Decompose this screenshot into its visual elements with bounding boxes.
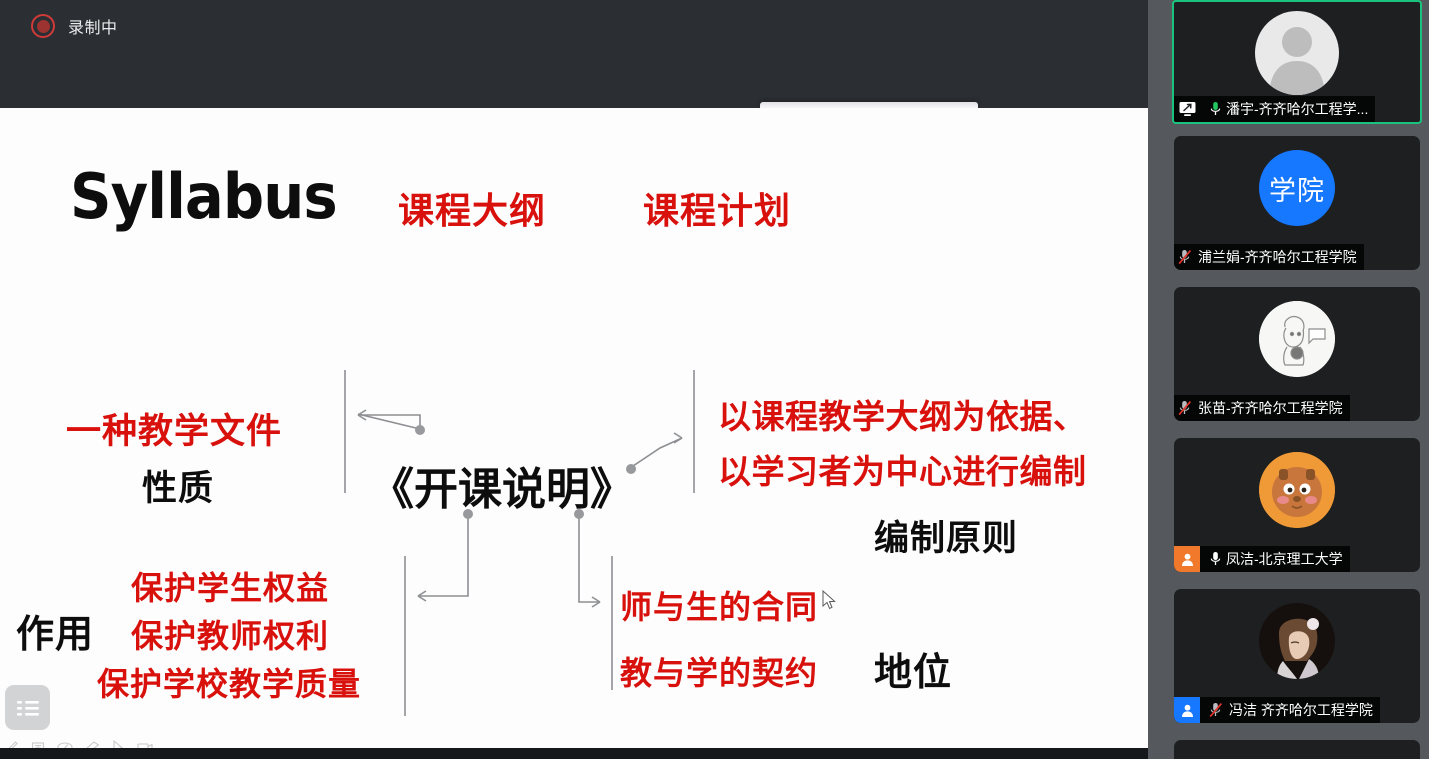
branch-function-label: 作用 xyxy=(16,603,94,658)
camera-icon[interactable] xyxy=(136,739,154,748)
branch-function-line3: 保护学校教学质量 xyxy=(97,659,361,705)
pen-icon[interactable] xyxy=(4,739,20,748)
shared-screen-slide[interactable]: Syllabus 课程大纲 课程计划 一种教学文件 性质 《开课说明》 以课程教… xyxy=(0,108,1148,748)
list-menu-icon[interactable] xyxy=(5,685,50,730)
cursor-arrow-icon[interactable] xyxy=(111,739,126,748)
participant-tile[interactable]: 凤洁-北京理工大学 xyxy=(1174,438,1420,572)
slide-title-alt-1: 课程大纲 xyxy=(398,182,546,234)
participant-video: 潘宇-齐齐哈尔工程学... xyxy=(1174,2,1420,122)
host-icon xyxy=(1174,697,1200,723)
eraser-icon[interactable] xyxy=(84,739,101,748)
participant-tile-partial[interactable] xyxy=(1174,740,1420,759)
participant-namebar: 冯洁 齐齐哈尔工程学院 xyxy=(1174,697,1380,723)
avatar xyxy=(1259,603,1335,679)
avatar xyxy=(1255,11,1339,95)
branch-principle-line1: 以课程教学大纲为依据、 xyxy=(718,390,1087,438)
branch-function-line1: 保护学生权益 xyxy=(131,563,329,609)
branch-status-line1: 师与生的合同 xyxy=(620,582,818,628)
text-box-icon[interactable] xyxy=(30,739,46,748)
branch-principle-line2: 以学习者为中心进行编制 xyxy=(718,445,1087,493)
participant-video: 张苗-齐齐哈尔工程学院 xyxy=(1174,287,1420,421)
avatar xyxy=(1259,452,1335,528)
participant-namebar: 浦兰娟-齐齐哈尔工程学院 xyxy=(1174,244,1364,270)
record-dot-icon xyxy=(31,14,55,38)
avatar-initials: 学院 xyxy=(1269,169,1325,208)
avatar xyxy=(1259,301,1335,377)
branch-status-label: 地位 xyxy=(874,641,952,696)
participant-video xyxy=(1174,740,1420,759)
participant-video: 学院 浦兰娟-齐齐哈尔工程学院 xyxy=(1174,136,1420,270)
mouse-pointer-icon xyxy=(822,590,836,610)
microphone-icon xyxy=(1205,551,1221,567)
microphone-muted-icon xyxy=(1205,702,1224,718)
branch-function-line2: 保护教师权利 xyxy=(131,611,329,657)
participant-video: 凤洁-北京理工大学 xyxy=(1174,438,1420,572)
microphone-icon xyxy=(1205,101,1221,117)
diagram-center-node: 《开课说明》 xyxy=(370,453,634,517)
participant-video: 冯洁 齐齐哈尔工程学院 xyxy=(1174,589,1420,723)
participant-tile[interactable]: 冯洁 齐齐哈尔工程学院 xyxy=(1174,589,1420,723)
slide-title-alt-2: 课程计划 xyxy=(643,182,791,234)
participant-name: 冯洁 齐齐哈尔工程学院 xyxy=(1229,700,1373,720)
participant-namebar: 凤洁-北京理工大学 xyxy=(1174,546,1350,572)
host-icon xyxy=(1174,546,1200,572)
meeting-window: 录制中 xyxy=(0,0,1429,759)
branch-status-line2: 教与学的契约 xyxy=(620,648,818,694)
recording-label: 录制中 xyxy=(68,14,118,38)
recording-top-bar: 录制中 xyxy=(0,0,1148,108)
branch-nature-label: 性质 xyxy=(142,460,214,511)
participant-name: 张苗-齐齐哈尔工程学院 xyxy=(1198,398,1343,418)
screen-share-icon xyxy=(1174,96,1200,122)
branch-principle-label: 编制原则 xyxy=(874,510,1018,561)
avatar: 学院 xyxy=(1259,150,1335,226)
microphone-muted-icon xyxy=(1174,400,1193,416)
slide-bottom-strip xyxy=(0,748,1148,759)
participant-name: 潘宇-齐齐哈尔工程学... xyxy=(1226,99,1368,119)
microphone-muted-icon xyxy=(1174,249,1193,265)
participant-name: 浦兰娟-齐齐哈尔工程学院 xyxy=(1198,247,1357,267)
participant-panel[interactable]: 潘宇-齐齐哈尔工程学... 学院 xyxy=(1148,0,1429,759)
participant-namebar: 潘宇-齐齐哈尔工程学... xyxy=(1174,96,1375,122)
slide-title-english: Syllabus xyxy=(70,160,337,233)
participant-name: 凤洁-北京理工大学 xyxy=(1226,549,1343,569)
highlighter-icon[interactable] xyxy=(56,739,74,748)
participant-namebar: 张苗-齐齐哈尔工程学院 xyxy=(1174,395,1350,421)
slide-heading-row: Syllabus 课程大纲 课程计划 xyxy=(0,160,1148,250)
annotation-toolbar[interactable] xyxy=(4,736,154,748)
branch-nature-text: 一种教学文件 xyxy=(66,403,282,454)
participant-tile[interactable]: 学院 浦兰娟-齐齐哈尔工程学院 xyxy=(1174,136,1420,270)
recording-indicator: 录制中 xyxy=(31,14,118,38)
participant-tile[interactable]: 张苗-齐齐哈尔工程学院 xyxy=(1174,287,1420,421)
participant-tile[interactable]: 潘宇-齐齐哈尔工程学... xyxy=(1174,2,1420,122)
